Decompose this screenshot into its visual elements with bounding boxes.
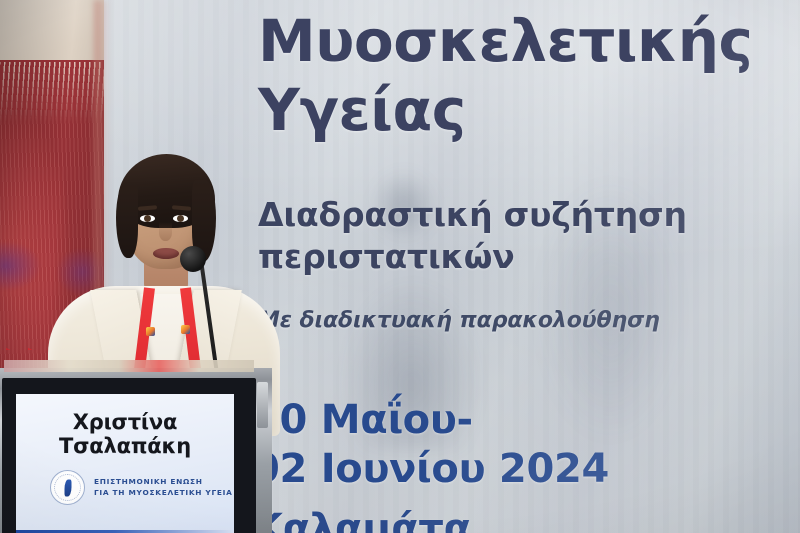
conference-photo-scene: Μυοσκελετικής Υγείας Διαδραστική συζήτησ… <box>0 0 800 533</box>
photo-vignette <box>0 0 800 533</box>
